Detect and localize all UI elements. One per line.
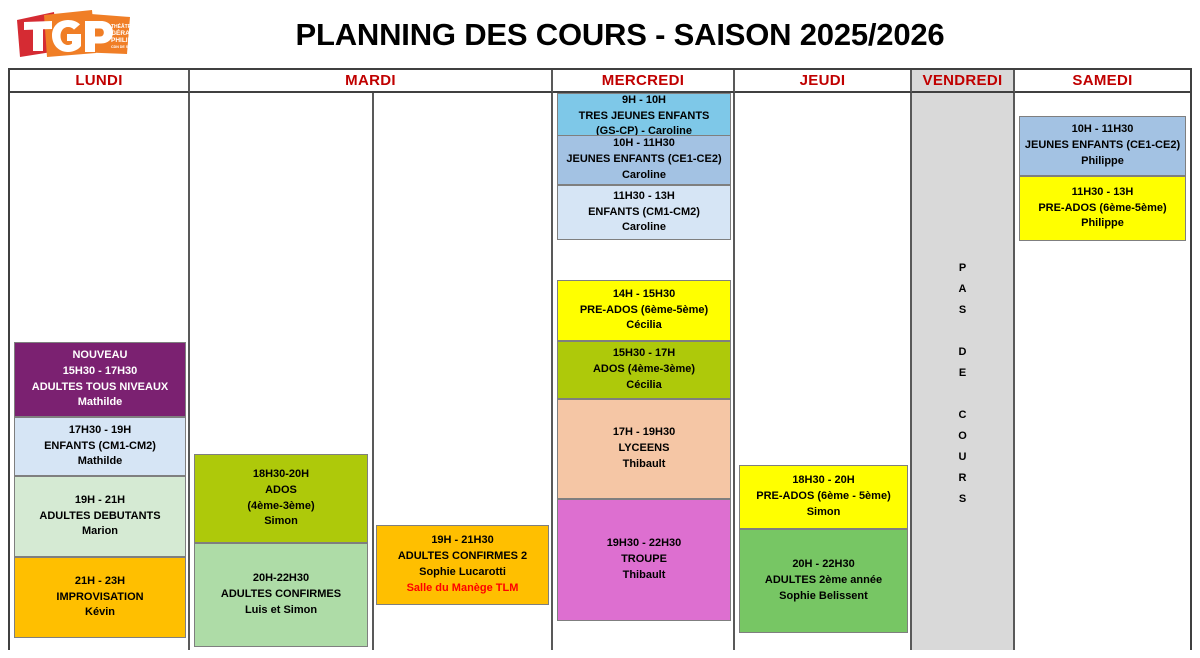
course-time: 18H30-20H — [197, 467, 365, 483]
course-teacher: Kévin — [17, 605, 183, 621]
course-group: ADULTES 2ème année — [742, 573, 905, 589]
course-teacher: Thibault — [560, 457, 728, 473]
course-time: 15H30 - 17H30 — [17, 364, 183, 380]
course-time: 17H - 19H30 — [560, 425, 728, 441]
course-time: 14H - 15H30 — [560, 287, 728, 303]
course-teacher: Philippe — [1022, 154, 1183, 170]
course-group-2: (4ème-3ème) — [197, 499, 365, 515]
course-time: 10H - 11H30 — [1022, 122, 1183, 138]
course-teacher: Mathilde — [17, 395, 183, 411]
course-block[interactable]: 21H - 23H IMPROVISATION Kévin — [14, 557, 186, 638]
day-header-samedi: SAMEDI — [1015, 70, 1190, 93]
course-group: LYCEENS — [560, 441, 728, 457]
course-block[interactable]: 20H-22H30 ADULTES CONFIRMES Luis et Simo… — [194, 543, 368, 647]
course-block[interactable]: 11H30 - 13H PRE-ADOS (6ème-5ème) Philipp… — [1019, 176, 1186, 241]
tgp-logo: THÉÂTRE GÉRARD PHILIPE CDN DE SAINT-DENI… — [14, 7, 134, 59]
no-class-letter: C — [912, 410, 1013, 431]
no-class-letter: S — [912, 494, 1013, 515]
course-teacher: Sophie Belissent — [742, 589, 905, 605]
course-block[interactable]: 10H - 11H30 JEUNES ENFANTS (CE1-CE2) Car… — [557, 135, 731, 185]
course-teacher: Simon — [742, 505, 905, 521]
course-group: ENFANTS (CM1-CM2) — [17, 439, 183, 455]
course-time: 20H-22H30 — [197, 571, 365, 587]
course-group: PRE-ADOS (6ème-5ème) — [1022, 201, 1183, 217]
day-column-samedi: 10H - 11H30 JEUNES ENFANTS (CE1-CE2) Phi… — [1015, 93, 1190, 650]
day-header-jeudi: JEUDI — [735, 70, 912, 93]
course-teacher: Mathilde — [17, 454, 183, 470]
course-block[interactable]: 19H - 21H30 ADULTES CONFIRMES 2 Sophie L… — [376, 525, 549, 605]
course-block[interactable]: 17H - 19H30 LYCEENS Thibault — [557, 399, 731, 499]
course-block[interactable]: 18H30-20H ADOS (4ème-3ème) Simon — [194, 454, 368, 543]
course-group: ADOS (4ème-3ème) — [560, 362, 728, 378]
course-time: 17H30 - 19H — [17, 423, 183, 439]
no-class-letter: S — [912, 305, 1013, 326]
course-teacher: Cécilia — [560, 318, 728, 334]
no-class-letter: P — [912, 263, 1013, 284]
course-block[interactable]: 18H30 - 20H PRE-ADOS (6ème - 5ème) Simon — [739, 465, 908, 529]
no-class-letter: A — [912, 284, 1013, 305]
no-class-spacer — [912, 389, 1013, 410]
course-group: ADOS — [197, 483, 365, 499]
logo-subtitle-line1: THÉÂTRE — [111, 22, 134, 30]
no-class-letter: O — [912, 431, 1013, 452]
course-teacher: Philippe — [1022, 216, 1183, 232]
course-block[interactable]: 9H - 10H TRES JEUNES ENFANTS (GS-CP) - C… — [557, 93, 731, 140]
no-class-letter: D — [912, 347, 1013, 368]
no-class-letter: E — [912, 368, 1013, 389]
course-time: 11H30 - 13H — [1022, 185, 1183, 201]
planning-page: THÉÂTRE GÉRARD PHILIPE CDN DE SAINT-DENI… — [0, 0, 1200, 658]
day-header-lundi: LUNDI — [10, 70, 190, 93]
course-time: 11H30 - 13H — [560, 189, 728, 205]
day-column-jeudi: 18H30 - 20H PRE-ADOS (6ème - 5ème) Simon… — [735, 93, 912, 650]
course-teacher: Marion — [17, 524, 183, 540]
no-class-label: P A S D E C O U R S — [912, 263, 1013, 515]
day-header-mercredi: MERCREDI — [553, 70, 735, 93]
course-group: TROUPE — [560, 552, 728, 568]
day-column-mercredi: 9H - 10H TRES JEUNES ENFANTS (GS-CP) - C… — [553, 93, 735, 650]
course-group: JEUNES ENFANTS (CE1-CE2) — [560, 152, 728, 168]
logo-subtitle-line2: GÉRARD — [111, 28, 134, 37]
course-group: ADULTES CONFIRMES 2 — [379, 549, 546, 565]
course-block[interactable]: NOUVEAU 15H30 - 17H30 ADULTES TOUS NIVEA… — [14, 342, 186, 417]
course-teacher: Luis et Simon — [197, 603, 365, 619]
course-teacher: Cécilia — [560, 378, 728, 394]
no-class-spacer — [912, 326, 1013, 347]
course-teacher: Caroline — [560, 220, 728, 236]
course-block[interactable]: 20H - 22H30 ADULTES 2ème année Sophie Be… — [739, 529, 908, 633]
course-time: 19H30 - 22H30 — [560, 536, 728, 552]
page-header: THÉÂTRE GÉRARD PHILIPE CDN DE SAINT-DENI… — [0, 0, 1200, 68]
course-teacher: Sophie Lucarotti — [379, 565, 546, 581]
course-room: Salle du Manège TLM — [379, 581, 546, 597]
day-header-vendredi: VENDREDI — [912, 70, 1015, 93]
course-block[interactable]: 19H - 21H ADULTES DEBUTANTS Marion — [14, 476, 186, 557]
course-time: 19H - 21H30 — [379, 533, 546, 549]
course-time: 19H - 21H — [17, 493, 183, 509]
tgp-logo-graphic: THÉÂTRE GÉRARD PHILIPE CDN DE SAINT-DENI… — [14, 7, 134, 59]
course-group: ENFANTS (CM1-CM2) — [560, 205, 728, 221]
course-group: ADULTES TOUS NIVEAUX — [17, 380, 183, 396]
day-header-mardi: MARDI — [190, 70, 553, 93]
day-column-lundi: NOUVEAU 15H30 - 17H30 ADULTES TOUS NIVEA… — [10, 93, 190, 650]
course-teacher: Simon — [197, 514, 365, 530]
course-block[interactable]: 10H - 11H30 JEUNES ENFANTS (CE1-CE2) Phi… — [1019, 116, 1186, 176]
course-block[interactable]: 17H30 - 19H ENFANTS (CM1-CM2) Mathilde — [14, 417, 186, 476]
schedule-grid: LUNDI MARDI MERCREDI JEUDI VENDREDI SAME… — [8, 68, 1192, 650]
no-class-letter: R — [912, 473, 1013, 494]
course-group: PRE-ADOS (6ème - 5ème) — [742, 489, 905, 505]
day-column-mardi: 18H30-20H ADOS (4ème-3ème) Simon 20H-22H… — [190, 93, 553, 650]
course-teacher: Thibault — [560, 568, 728, 584]
mardi-column-divider — [372, 93, 374, 650]
course-group: JEUNES ENFANTS (CE1-CE2) — [1022, 138, 1183, 154]
course-block[interactable]: 15H30 - 17H ADOS (4ème-3ème) Cécilia — [557, 341, 731, 399]
course-group: IMPROVISATION — [17, 590, 183, 606]
course-block[interactable]: 14H - 15H30 PRE-ADOS (6ème-5ème) Cécilia — [557, 280, 731, 341]
course-time: 10H - 11H30 — [560, 136, 728, 152]
course-time: 21H - 23H — [17, 574, 183, 590]
no-class-letter: U — [912, 452, 1013, 473]
course-group: TRES JEUNES ENFANTS — [560, 109, 728, 125]
page-title: PLANNING DES COURS - SAISON 2025/2026 — [190, 17, 1050, 53]
course-time: 20H - 22H30 — [742, 557, 905, 573]
course-time: 18H30 - 20H — [742, 473, 905, 489]
course-block[interactable]: 19H30 - 22H30 TROUPE Thibault — [557, 499, 731, 621]
course-group: ADULTES CONFIRMES — [197, 587, 365, 603]
logo-subtitle-line3: PHILIPE — [111, 37, 134, 44]
course-group: ADULTES DEBUTANTS — [17, 509, 183, 525]
day-column-vendredi: P A S D E C O U R S — [912, 93, 1015, 650]
course-time: 15H30 - 17H — [560, 346, 728, 362]
course-teacher: Caroline — [560, 168, 728, 184]
course-badge: NOUVEAU — [17, 348, 183, 364]
course-time: 9H - 10H — [560, 93, 728, 109]
course-block[interactable]: 11H30 - 13H ENFANTS (CM1-CM2) Caroline — [557, 185, 731, 240]
logo-subtitle-line4: CDN DE SAINT-DENIS — [111, 45, 134, 49]
course-group: PRE-ADOS (6ème-5ème) — [560, 303, 728, 319]
